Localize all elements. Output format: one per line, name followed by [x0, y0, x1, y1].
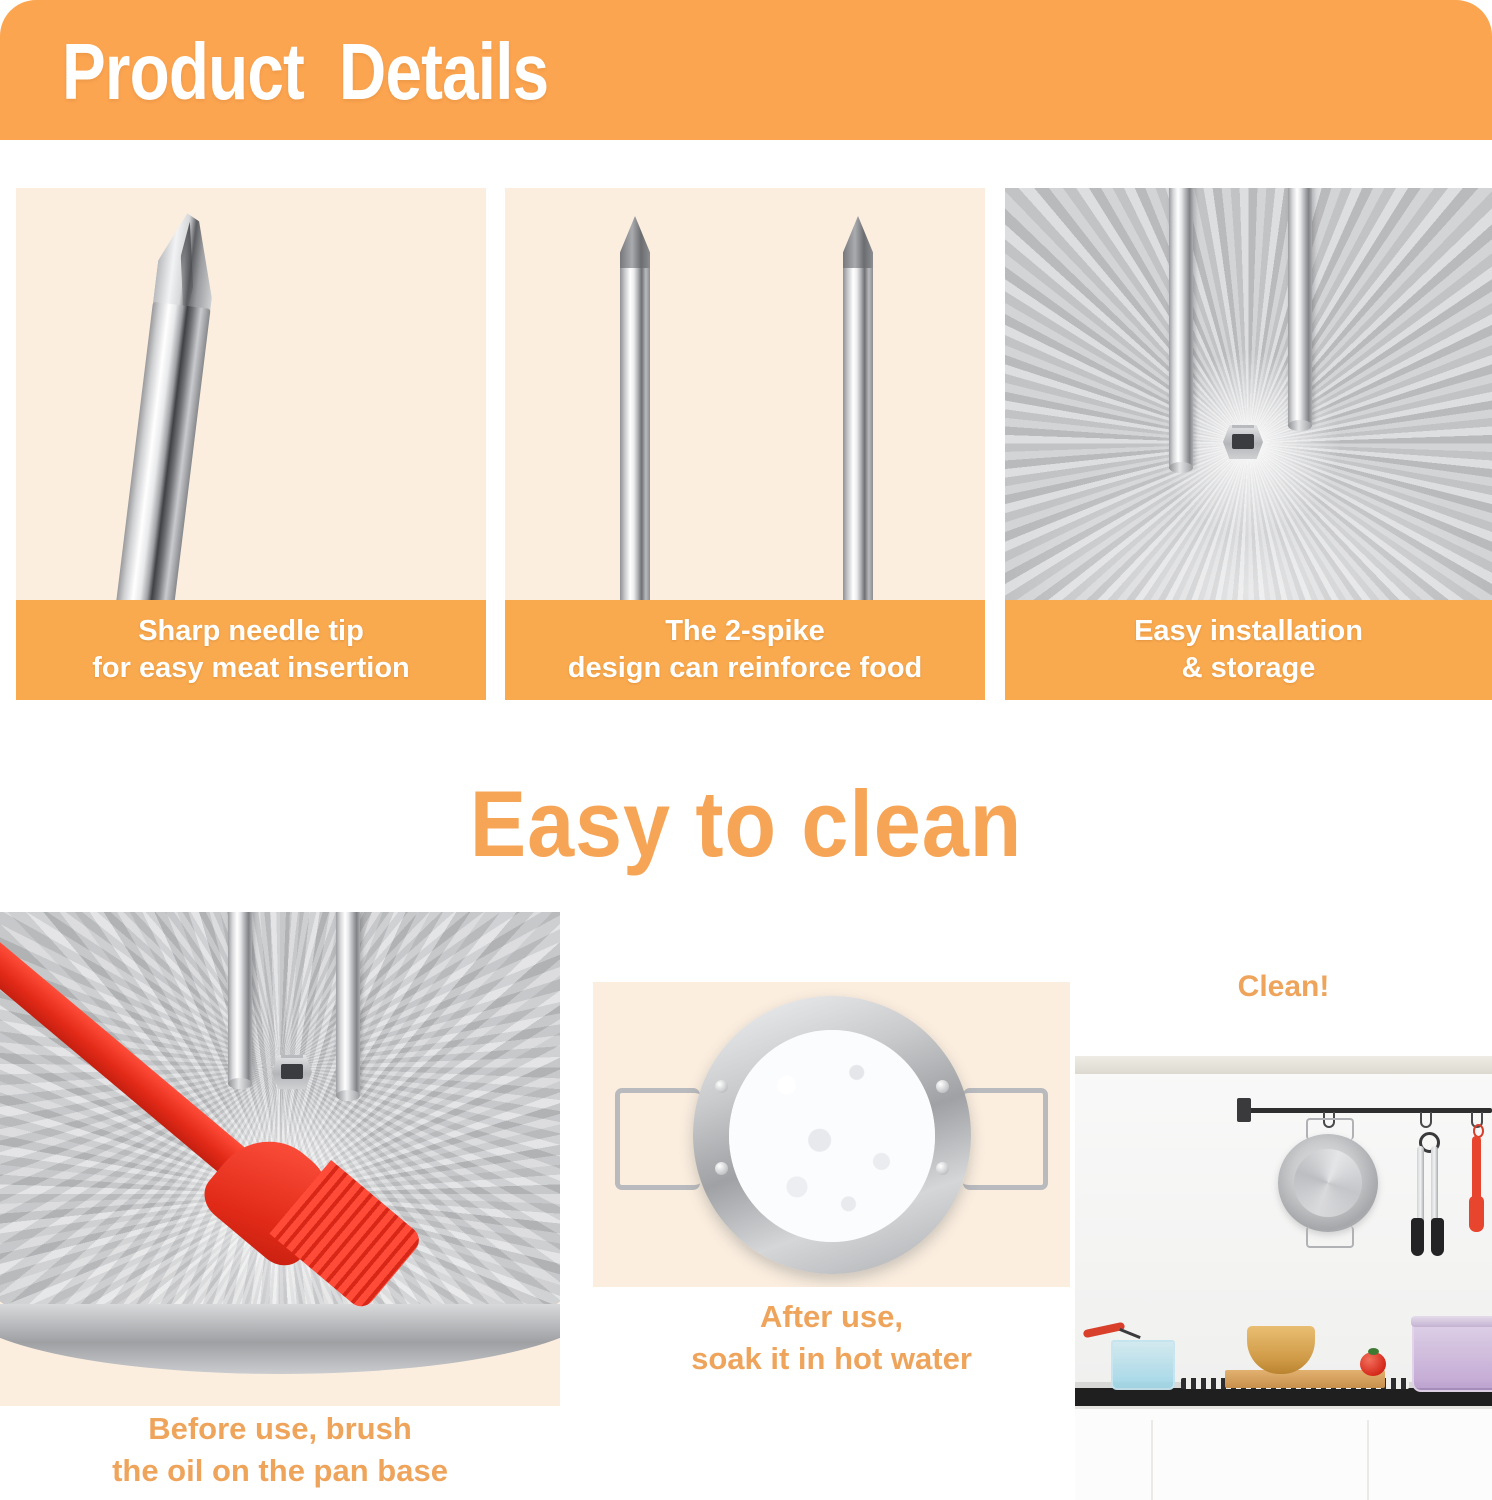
caption-line-2: the oil on the pan base [0, 1450, 560, 1492]
caption-line-1: The 2-spike [665, 613, 825, 650]
product-details-banner: Product Details [0, 0, 1492, 140]
clean-step-caption-3: Clean! [1075, 968, 1492, 1006]
brushed-steel-surface [1005, 188, 1492, 600]
pan-base-image [1005, 188, 1492, 600]
caption-line-2: design can reinforce food [568, 650, 923, 687]
two-spike-image [505, 188, 985, 600]
glass-cup [1111, 1340, 1175, 1390]
clean-step-image-kitchen [1075, 1030, 1492, 1500]
caption-line-2: & storage [1182, 650, 1316, 687]
caption-line-2: soak it in hot water [593, 1338, 1070, 1380]
cabinet-seam [1367, 1420, 1369, 1500]
caption-line-1: Before use, brush [0, 1408, 560, 1450]
rod-left [228, 912, 252, 1084]
rod-right [1288, 188, 1312, 426]
caption-line-1: Sharp needle tip [138, 613, 364, 650]
rivet [936, 1080, 949, 1093]
feature-caption-1: Sharp needle tip for easy meat insertion [16, 600, 486, 700]
rivet [936, 1162, 949, 1175]
clean-step-image-soak [593, 982, 1070, 1287]
pan-base-surface [0, 912, 560, 1367]
rod-right [336, 912, 360, 1096]
feature-panel-two-spike: The 2-spike design can reinforce food [505, 188, 985, 700]
hex-nut [272, 1055, 312, 1089]
rail-clip [1237, 1098, 1251, 1122]
pan-interior [729, 1030, 935, 1242]
page-title: Product Details [62, 28, 548, 116]
rod-left [1169, 188, 1193, 468]
purple-glass-bowl [1412, 1322, 1492, 1392]
tomato [1360, 1352, 1386, 1376]
caption-line-2: for easy meat insertion [92, 650, 410, 687]
cabinet-valance [1075, 1056, 1492, 1074]
upper-cabinet [1075, 1030, 1492, 1059]
caption-line-1: Easy installation [1134, 613, 1363, 650]
pan-body [693, 996, 971, 1274]
hex-nut [1223, 425, 1263, 459]
spike-right-graphic [843, 216, 873, 600]
soap-foam [729, 1030, 935, 1242]
hanging-silicone-brush [1469, 1130, 1484, 1240]
needle-tip-image [16, 188, 486, 600]
pan-handle-left [615, 1088, 700, 1190]
utensil-rail [1241, 1108, 1492, 1113]
spike-left-graphic [620, 216, 650, 600]
clean-step-caption-2: After use, soak it in hot water [593, 1296, 1070, 1380]
section-heading-easy-to-clean: Easy to clean [75, 772, 1418, 876]
feature-caption-2: The 2-spike design can reinforce food [505, 600, 985, 700]
hook [1420, 1112, 1432, 1128]
caption-line-1: After use, [593, 1296, 1070, 1338]
lower-cabinets [1075, 1406, 1492, 1500]
spike-graphic [105, 209, 230, 600]
hanging-pan-wire-bottom [1306, 1226, 1354, 1248]
feature-caption-3: Easy installation & storage [1005, 600, 1492, 700]
cutting-board [1225, 1370, 1385, 1388]
clean-step-caption-1: Before use, brush the oil on the pan bas… [0, 1408, 560, 1492]
hanging-tongs [1405, 1130, 1449, 1252]
feature-panel-needle-tip: Sharp needle tip for easy meat insertion [16, 188, 486, 700]
pan-handle-right [963, 1088, 1048, 1190]
cabinet-seam [1151, 1420, 1153, 1500]
feature-panel-installation: Easy installation & storage [1005, 188, 1492, 700]
clean-step-image-brush [0, 912, 560, 1406]
rivet [715, 1080, 728, 1093]
hanging-pan [1278, 1134, 1378, 1232]
rivet [715, 1162, 728, 1175]
